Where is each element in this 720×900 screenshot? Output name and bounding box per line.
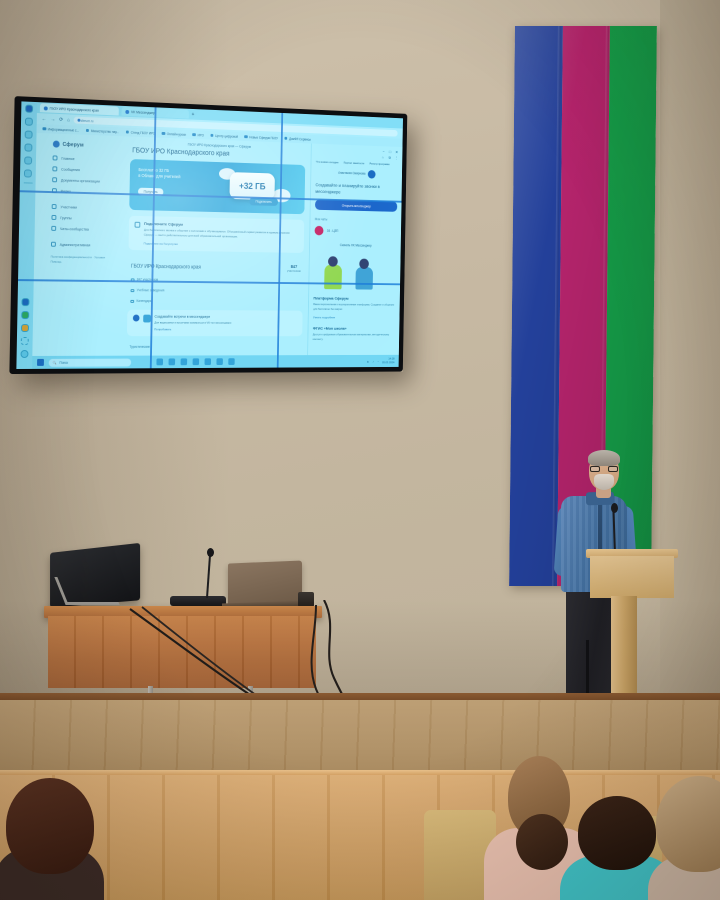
admin-icon — [51, 242, 56, 247]
bookmark-label: Новые Сферум ГБОУ — [249, 135, 278, 140]
bookmark-item[interactable]: Онлайн-уроки — [162, 131, 186, 136]
sidebar-item-label: Сообщения — [61, 167, 80, 172]
speaker-glasses — [590, 466, 618, 472]
video-wall-screen[interactable]: ГБОУ ИРО Краснодарского края VK Мессендж… — [16, 101, 403, 369]
organization-row[interactable]: ГБОУ ИРО Краснодарского края 847 участни… — [128, 262, 303, 273]
tab-title: ГБОУ ИРО Краснодарского края — [50, 106, 99, 112]
rail-divider — [23, 182, 32, 183]
sidebar-item-messages[interactable]: Сообщения — [52, 166, 120, 173]
sidebar-item-label: Документы организации — [61, 178, 100, 183]
clock-date: 05.03.2024 — [382, 361, 394, 365]
sidebar-item-participants[interactable]: Участники — [52, 204, 120, 211]
platform-block-title: Платформа Сферум — [313, 296, 395, 301]
illustration-figure-green — [324, 265, 342, 290]
history-icon[interactable] — [25, 118, 33, 126]
my-chats-label: Мои чаты — [315, 218, 397, 224]
right-bookmarks[interactable]: Что нового сегодня Портал занятости Реес… — [316, 160, 398, 167]
bookmark-icon — [284, 137, 287, 140]
illustration-figure-blue — [355, 267, 373, 290]
glasses-lens-left — [590, 466, 600, 472]
podium-front — [590, 556, 674, 598]
audience-member — [648, 776, 720, 900]
promo-text: Бесплатно 32 ГБ в Облаке для учителей — [138, 167, 231, 182]
tab-title: VK Мессенджер — [131, 110, 155, 115]
bookmark-label: Министерство нау... — [91, 129, 119, 134]
meta-calendar[interactable]: Календарь — [128, 299, 303, 304]
search-placeholder: Поиск — [59, 360, 68, 364]
platform-block-body: Ваша персональная и корпоративная платфо… — [313, 303, 395, 313]
bookmark-icon — [162, 132, 165, 136]
bookmark-item[interactable]: Министерство нау... — [86, 128, 119, 133]
add-app-icon[interactable] — [21, 337, 29, 345]
document-icon — [52, 177, 57, 182]
bookmark-label: Стенд ГБОУ ИРО — [131, 130, 155, 135]
taskbar-pinned-apps[interactable] — [156, 358, 234, 365]
feed-footer: Туристические — [127, 345, 302, 349]
wifi-icon[interactable]: ◔ — [377, 359, 379, 363]
sidebar-item-main[interactable]: Главное — [53, 155, 121, 162]
meta-label: Календарь — [136, 299, 151, 303]
close-icon[interactable]: ✕ — [395, 150, 398, 155]
mail-icon[interactable] — [205, 358, 212, 365]
tab-favicon — [125, 109, 129, 113]
organization-name: ГБОУ ИРО Краснодарского края — [131, 264, 201, 271]
connect-card[interactable]: Подключите Сферум Для бесплатного звонка… — [128, 216, 304, 254]
sidebar-item-label: Главное — [61, 156, 74, 160]
address-bar-url: sferum.ru — [81, 118, 94, 122]
sferum-logo[interactable]: Сферум — [53, 141, 121, 150]
bookmark-label: ДомФЛ Сервисы — [289, 137, 311, 142]
participants-count: 847 участников — [287, 264, 301, 273]
back-icon[interactable]: ← — [42, 116, 47, 122]
bookmark-label: Информационные с... — [48, 127, 79, 132]
windows-icon[interactable] — [37, 359, 44, 366]
user-name: Анастасия Смирнова — [338, 171, 365, 176]
download-messenger-link[interactable]: Скачать VK Мессенджер — [314, 243, 396, 248]
network-icon[interactable]: ▲ — [367, 359, 370, 363]
avatar[interactable] — [368, 170, 376, 179]
search-icon: 🔍 — [53, 360, 57, 364]
bookmark-item[interactable]: ДомФЛ Сервисы — [284, 136, 311, 141]
podium-microphone-head — [611, 503, 618, 513]
right-bookmark-item[interactable]: Портал занятости — [344, 161, 365, 165]
sidebar-item-label: Административная — [60, 242, 91, 247]
account-avatar[interactable] — [21, 350, 29, 358]
myschool-block-title: ФГИС «Моя школа» — [313, 326, 395, 331]
extensions-icon[interactable] — [24, 156, 32, 164]
sidebar-item-documents[interactable]: Документы организации — [52, 177, 120, 184]
right-bookmark-item[interactable]: Реестр программ — [370, 162, 390, 166]
settings-icon[interactable] — [228, 358, 234, 365]
home-icon — [53, 155, 58, 160]
community-icon — [51, 226, 56, 231]
sidebar-item-groups[interactable]: Группы — [51, 215, 119, 221]
bookmark-icon — [42, 127, 45, 131]
post-title: Создавайте встречи в мессенджере — [154, 315, 231, 319]
bookmark-icon — [192, 133, 195, 137]
post-avatar — [133, 315, 140, 322]
sidebar-item-label: Чаты-сообщества — [60, 227, 89, 232]
new-tab-button[interactable]: + — [192, 111, 195, 117]
audience-member — [0, 780, 108, 900]
folder-icon[interactable] — [193, 358, 200, 365]
sidebar-item-label: Участники — [60, 205, 77, 209]
profile-icon[interactable] — [25, 105, 33, 113]
browser-window[interactable]: ГБОУ ИРО Краснодарского края VK Мессендж… — [16, 101, 403, 369]
platform-block-link[interactable]: Узнать подробнее — [313, 316, 395, 320]
sferum-right-panel[interactable]: − □ ✕ ☆ ⧉ ⋮ Что нового сегодня Портал за… — [307, 144, 402, 356]
bookmarks-icon[interactable] — [25, 130, 33, 138]
video-wall[interactable]: ГБОУ ИРО Краснодарского края VK Мессендж… — [9, 96, 407, 374]
bookmark-label: Центр цифровой — [215, 134, 238, 139]
card-body: Для бесплатного звонка и общения с колле… — [144, 228, 299, 241]
bookmark-icon — [126, 130, 129, 134]
people-icon — [52, 204, 57, 209]
downloads-icon[interactable] — [24, 143, 32, 151]
bookmark-icon — [210, 134, 213, 137]
bookmark-label: Онлайн-уроки — [167, 132, 186, 137]
bookmark-item[interactable]: ИРО — [192, 133, 203, 137]
bookmark-item[interactable]: Новые Сферум ГБОУ — [244, 135, 278, 140]
chat-icon — [52, 166, 57, 171]
bookmark-label: ИРО — [198, 133, 204, 137]
browser-icon[interactable] — [181, 358, 188, 365]
user-chip[interactable]: Анастасия Смирнова — [316, 168, 398, 179]
forward-icon[interactable]: → — [50, 116, 55, 122]
chat-list-item[interactable]: 16 - ЦЗП — [315, 226, 397, 237]
sidebar-footer-help[interactable]: Помощь — [51, 260, 119, 266]
bookmark-item[interactable]: Стенд ГБОУ ИРО — [126, 130, 156, 135]
microphone-head — [207, 548, 214, 557]
explorer-icon[interactable] — [156, 358, 163, 365]
post-thumbnail — [143, 315, 151, 323]
group-icon — [51, 215, 56, 220]
edge-icon[interactable] — [169, 358, 176, 365]
bookmark-icon — [244, 135, 247, 138]
minimize-icon[interactable]: − — [383, 149, 385, 154]
bookmark-icon — [86, 129, 89, 133]
meta-institutions[interactable]: Учебные заведения — [128, 289, 303, 294]
home-icon[interactable]: ⌂ — [67, 117, 70, 123]
cloud-promo-banner[interactable]: Бесплатно 32 ГБ в Облаке для учителей По… — [129, 159, 305, 214]
app-icon-1[interactable] — [21, 298, 29, 306]
sidebar-item-label: Группы — [60, 216, 72, 220]
messenger-promo-heading: Создавайте и планируйте звонки в мессенд… — [315, 182, 397, 197]
school-icon — [131, 289, 134, 292]
monitor-stand — [54, 577, 119, 605]
volume-icon[interactable]: ♪ — [372, 359, 373, 363]
settings-icon[interactable] — [24, 169, 32, 177]
right-bookmark-item[interactable]: Что нового сегодня — [316, 160, 339, 165]
menu-icon[interactable]: ⋮ — [395, 156, 398, 160]
calendar-icon — [130, 300, 133, 303]
chat-name: 16 - ЦЗП — [327, 229, 338, 233]
check-icon — [135, 222, 141, 228]
post-body: Для видеосвязи и встречами заниматься в … — [154, 321, 231, 325]
feed-post[interactable]: Создавайте встречи в мессенджере Для вид… — [127, 310, 303, 337]
clock[interactable]: 14:28 05.03.2024 — [382, 357, 394, 364]
post-link[interactable]: Попробовать — [154, 328, 231, 332]
sidebar-item-communities[interactable]: Чаты-сообщества — [51, 226, 119, 232]
audience-hair — [6, 778, 94, 874]
conference-hall-scene: ГБОУ ИРО Краснодарского края VK Мессендж… — [0, 0, 720, 900]
star-icon[interactable]: ☆ — [381, 156, 384, 160]
card-link[interactable]: Подробнее на Госуслугах — [144, 242, 299, 249]
bookmark-item[interactable]: Центр цифровой — [210, 133, 238, 138]
speaker-beard — [594, 474, 614, 490]
app-icon-3[interactable] — [21, 324, 29, 332]
sferum-logo-icon — [53, 141, 60, 148]
teams-icon[interactable] — [216, 358, 223, 365]
browser-toolbar-icons[interactable]: ☆ ⧉ ⋮ — [316, 153, 398, 160]
audience-hair — [578, 796, 656, 870]
search-input[interactable]: 🔍 Поиск — [49, 358, 132, 366]
maximize-icon[interactable]: □ — [389, 149, 391, 154]
system-tray[interactable]: ▲ ♪ ◔ 14:28 05.03.2024 — [367, 357, 395, 364]
reload-icon[interactable]: ⟳ — [59, 116, 63, 122]
extensions-icon[interactable]: ⧉ — [388, 156, 390, 160]
sidebar-item-admin[interactable]: Административная — [51, 242, 119, 248]
sidebar-footer: Политика конфиденциальности · Условия По… — [51, 255, 119, 266]
windows-taskbar[interactable]: 🔍 Поиск ▲ ♪ ◔ — [32, 355, 399, 369]
glasses-lens-right — [608, 466, 618, 472]
sferum-page[interactable]: Сферум Главное Сообщения Документы орган… — [32, 133, 402, 356]
app-icon-2[interactable] — [21, 311, 29, 319]
sferum-logo-label: Сферум — [63, 141, 84, 148]
myschool-block-body: Доступ к цифровым образовательным матери… — [313, 333, 395, 343]
audience-hair — [656, 776, 720, 872]
chat-avatar — [315, 226, 324, 236]
speaker-hair — [588, 450, 620, 466]
sferum-sidebar[interactable]: Сферум Главное Сообщения Документы орган… — [32, 133, 125, 356]
bookmark-item[interactable]: Информационные с... — [42, 127, 79, 132]
participants-count-label: участников — [287, 269, 301, 273]
tab-favicon — [44, 106, 48, 110]
